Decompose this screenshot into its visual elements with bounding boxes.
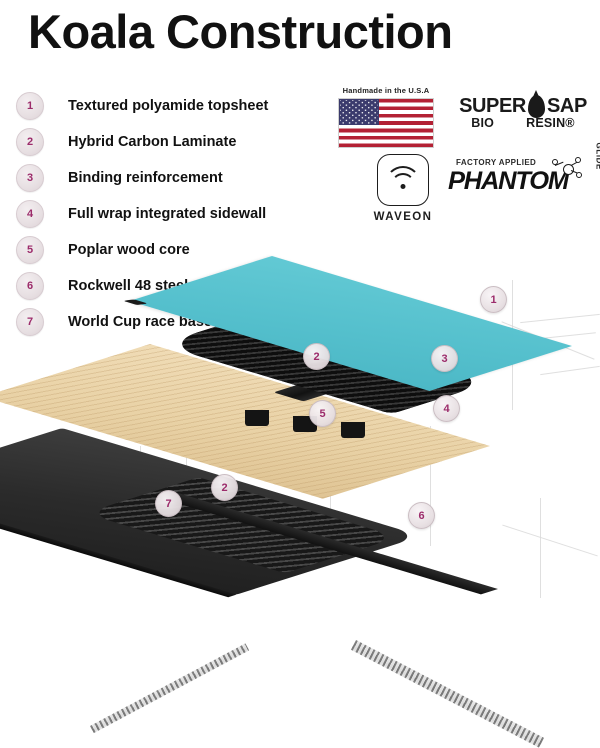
construction-diagram-page: Koala Construction 1 Textured polyamide … [0, 0, 600, 600]
handmade-usa-caption: Handmade in the U.S.A [330, 86, 442, 95]
diagram-marker-2-top: 2 [303, 343, 330, 370]
list-item: 4 Full wrap integrated sidewall [8, 196, 308, 232]
diagram-marker-1: 1 [480, 286, 507, 313]
diagram-marker-7: 7 [155, 490, 182, 517]
supersap-wordmark: SUPER SAP [448, 94, 598, 118]
legend-label-3: Binding reinforcement [68, 170, 223, 186]
wave-dot-icon [401, 184, 406, 189]
flag-canton-icon [339, 99, 379, 125]
waveon-logo: WAVEON [360, 154, 446, 223]
diagram-marker-3: 3 [431, 345, 458, 372]
diagram-marker-4: 4 [433, 395, 460, 422]
waveon-wordmark: WAVEON [360, 211, 446, 223]
phantom-wordmark-row: PHANTOM GLIDE [448, 168, 600, 194]
usa-flag-icon [338, 98, 434, 148]
registered-mark: ® [565, 116, 574, 130]
steel-edge-teeth [90, 643, 249, 733]
list-item: 2 Hybrid Carbon Laminate [8, 124, 308, 160]
phantom-glide-logo: FACTORY APPLIED PHANTOM GLIDE [448, 158, 600, 208]
diagram-marker-5: 5 [309, 400, 336, 427]
list-item: 1 Textured polyamide topsheet [8, 88, 308, 124]
construction-line [540, 498, 541, 598]
supersap-word-right: SAP [547, 96, 587, 116]
droplet-icon [528, 95, 545, 118]
steel-edge-teeth [351, 640, 544, 748]
legend-marker-2: 2 [16, 128, 44, 156]
handmade-usa-badge: Handmade in the U.S.A [330, 86, 442, 148]
steel-edge-left [90, 643, 249, 733]
legend-label-2: Hybrid Carbon Laminate [68, 134, 236, 150]
phantom-suffix: GLIDE [594, 143, 600, 170]
construction-line [520, 314, 600, 323]
legend-label-4: Full wrap integrated sidewall [68, 206, 266, 222]
legend-marker-1: 1 [16, 92, 44, 120]
construction-line [502, 525, 597, 557]
list-item: 3 Binding reinforcement [8, 160, 308, 196]
construction-line [540, 366, 600, 375]
topsheet-nose-tip [123, 299, 148, 305]
legend-label-1: Textured polyamide topsheet [68, 98, 268, 114]
phantom-wordmark: PHANTOM [448, 168, 568, 194]
molecule-icon [552, 157, 582, 179]
brand-badges: Handmade in the U.S.A SUPER SAP BIO RESI… [320, 84, 600, 224]
diagram-marker-6: 6 [408, 502, 435, 529]
supersap-sub-left: BIO [471, 116, 494, 130]
supersap-logo: SUPER SAP BIO RESIN ® [448, 94, 598, 140]
exploded-view-diagram: 1 2 3 4 5 6 7 2 [0, 240, 600, 600]
wave-signal-icon [377, 154, 429, 206]
diagram-marker-2-base: 2 [211, 474, 238, 501]
base-carbon-ribs [85, 477, 399, 573]
legend-marker-3: 3 [16, 164, 44, 192]
page-title: Koala Construction [28, 4, 452, 60]
flag-stars-icon [340, 100, 378, 124]
supersap-sub-right: RESIN [526, 116, 565, 130]
supersap-subline: BIO RESIN ® [448, 116, 598, 132]
steel-edge-right [351, 640, 544, 748]
legend-marker-4: 4 [16, 200, 44, 228]
supersap-word-left: SUPER [459, 96, 526, 116]
